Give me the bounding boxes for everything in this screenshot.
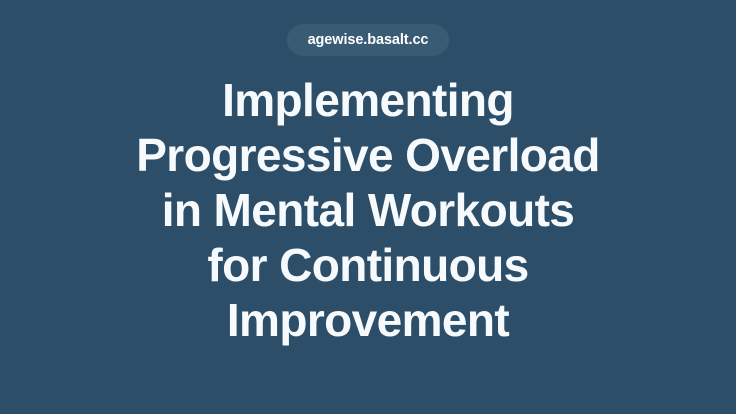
site-domain-badge: agewise.basalt.cc — [287, 24, 450, 56]
title-line-4: for Continuous — [38, 238, 698, 293]
title-line-3: in Mental Workouts — [38, 183, 698, 238]
title-line-5: Improvement — [38, 293, 698, 348]
title-line-1: Implementing — [38, 73, 698, 128]
title-line-2: Progressive Overload — [38, 128, 698, 183]
share-card: agewise.basalt.cc Implementing Progressi… — [0, 0, 736, 414]
page-title: Implementing Progressive Overload in Men… — [38, 73, 698, 348]
